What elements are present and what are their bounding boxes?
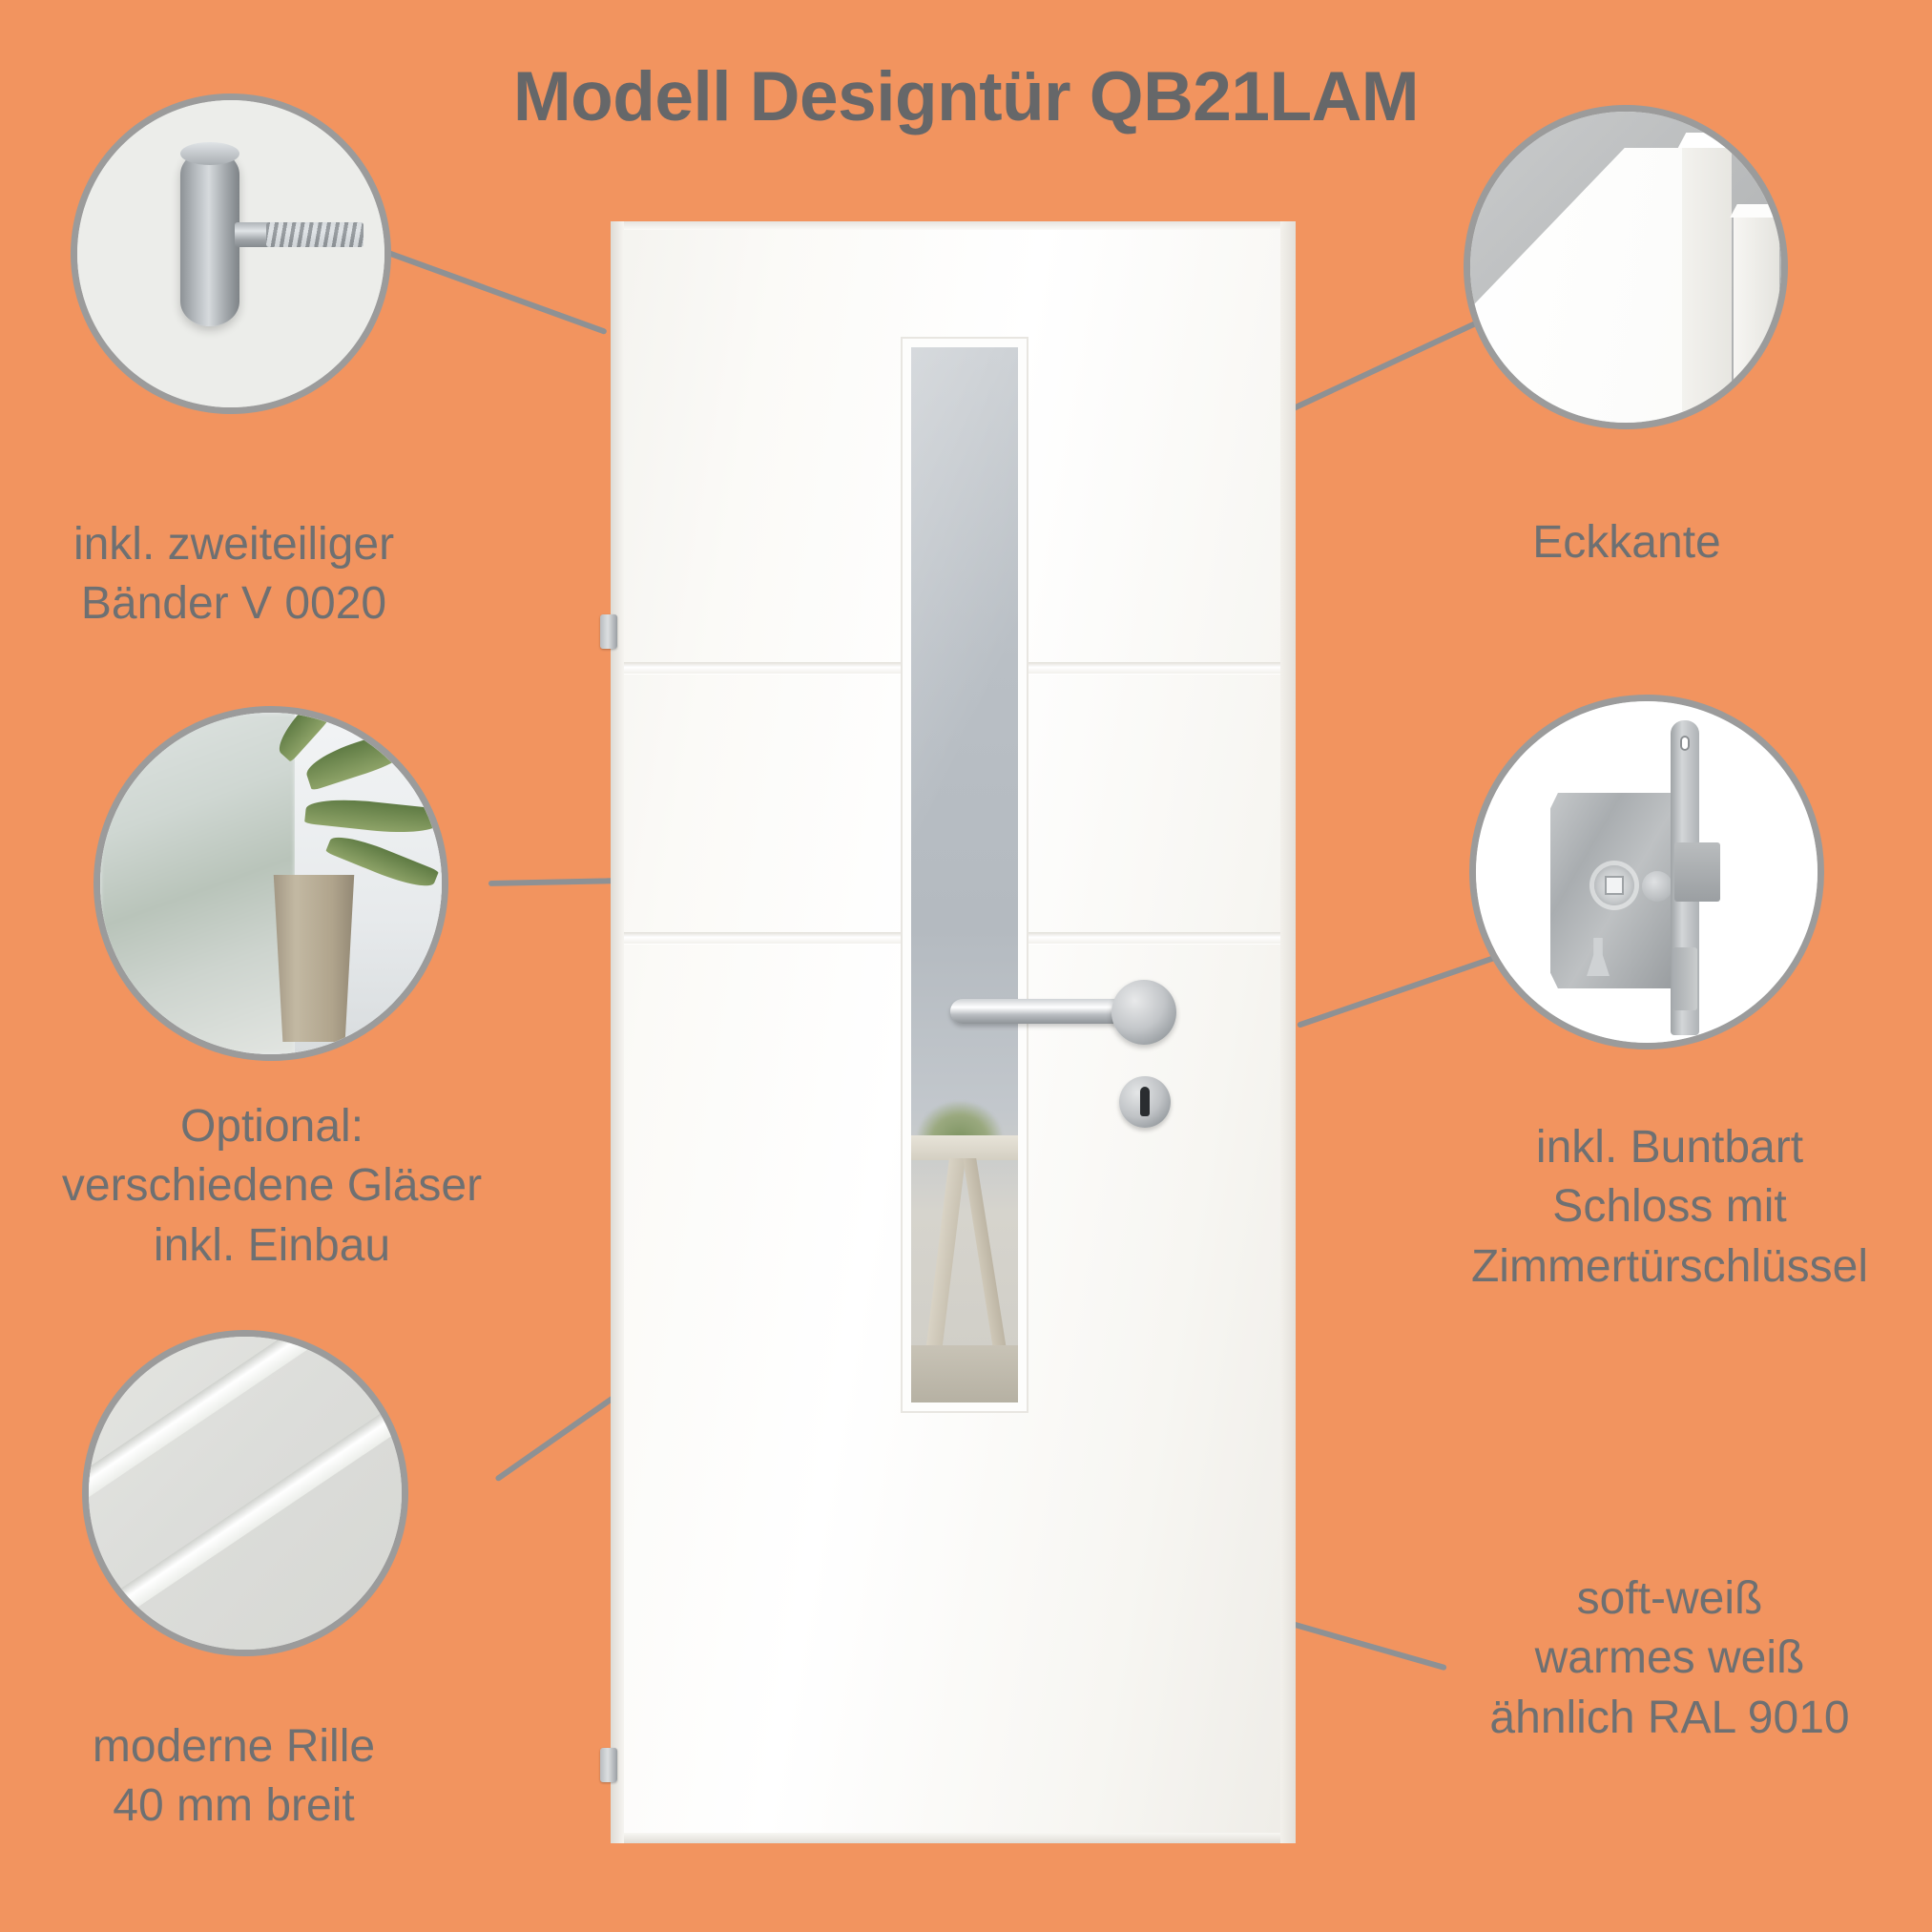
edge-profile-cap xyxy=(1730,204,1782,218)
lock-follower xyxy=(1594,865,1634,905)
lock-latch xyxy=(1672,947,1697,1010)
feature-bubble-lock xyxy=(1469,695,1824,1049)
mortise-lock-icon xyxy=(1476,701,1818,1043)
feature-caption-glass: Optional: verschiedene Gläser inkl. Einb… xyxy=(19,1097,525,1276)
feature-bubble-hinges xyxy=(71,93,391,414)
hinge-thread xyxy=(266,222,364,247)
hinge-head-cap xyxy=(180,142,239,165)
keyhole-icon xyxy=(1140,1087,1150,1116)
feature-bubble-glass xyxy=(93,706,448,1061)
lock-bolt xyxy=(1674,842,1720,902)
edge-profile-cap xyxy=(1678,133,1736,148)
lock-cylinder-hole xyxy=(1642,871,1672,902)
keyhole-escutcheon[interactable] xyxy=(1119,1076,1171,1128)
connector-hinges xyxy=(377,246,608,335)
feature-caption-corner-edge: Eckkante xyxy=(1422,513,1832,572)
door-lock-edge xyxy=(1280,221,1296,1843)
plant-pot xyxy=(268,875,360,1042)
door-groove-icon xyxy=(89,1337,402,1650)
feature-bubble-corner-edge xyxy=(1464,105,1788,429)
frosted-glass-plant-icon xyxy=(100,713,442,1054)
infographic-canvas: Modell Designtür QB21LAM xyxy=(0,0,1932,1932)
door-top-edge xyxy=(611,221,1296,230)
feature-caption-color: soft-weiß warmes weiß ähnlich RAL 9010 xyxy=(1422,1569,1918,1748)
feature-caption-lock: inkl. Buntbart Schloss mit Zimmertürschl… xyxy=(1402,1118,1932,1297)
glass-panel xyxy=(911,347,1018,1402)
door-corner-edge-icon xyxy=(1470,112,1781,423)
glass-sheen xyxy=(911,347,1018,1402)
door-hinge-bottom xyxy=(600,1748,617,1782)
feature-caption-hinges: inkl. zweiteiliger Bänder V 0020 xyxy=(29,515,439,634)
door-bottom-edge xyxy=(611,1833,1296,1843)
frosted-glass-half xyxy=(100,713,295,1054)
door-hinge-icon xyxy=(77,100,384,407)
edge-profile-panel xyxy=(1682,140,1732,429)
feature-caption-groove: moderne Rille 40 mm breit xyxy=(29,1717,439,1837)
connector-corner-edge xyxy=(1282,310,1501,416)
edge-profile-panel xyxy=(1734,212,1779,429)
feature-bubble-groove xyxy=(82,1330,408,1656)
faceplate-screw-hole xyxy=(1680,736,1690,751)
hinge-head xyxy=(180,150,239,326)
lock-keyhole xyxy=(1587,938,1610,976)
door-hinge-edge xyxy=(611,221,624,1843)
door-leaf xyxy=(611,221,1296,1843)
glass-frame xyxy=(903,339,1027,1411)
door-hinge-top xyxy=(600,614,617,649)
groove-line xyxy=(82,1376,408,1656)
door-handle-rosette xyxy=(1111,980,1176,1045)
lock-case xyxy=(1550,793,1676,988)
